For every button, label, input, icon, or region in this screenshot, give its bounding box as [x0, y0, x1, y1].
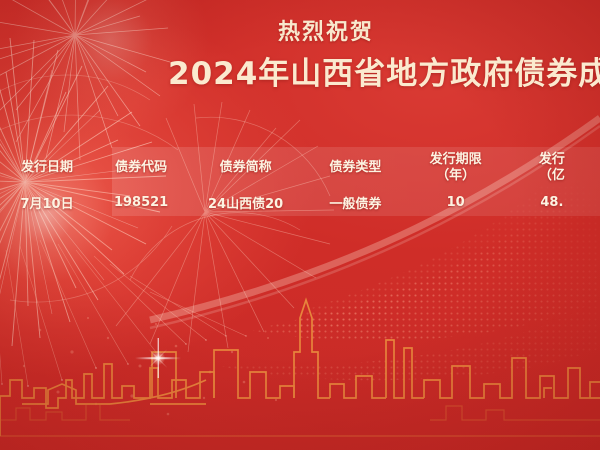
cell-bond-short-name: 24山西债20	[188, 189, 303, 216]
column-header-bond-type: 债券类型	[303, 147, 408, 189]
sparkle-star	[157, 357, 159, 359]
headline-block: 热烈祝贺 2024年山西省地方政府债券成功发	[0, 22, 600, 91]
column-header-issue-date: 发行日期	[0, 147, 94, 189]
page-title: 2024年山西省地方政府债券成功发	[0, 58, 600, 91]
header-line-1: 发行日期	[21, 160, 73, 175]
header-line-1: 债券类型	[329, 160, 381, 175]
kicker-text: 热烈祝贺	[0, 22, 600, 44]
column-header-issue-term: 发行期限 （年）	[408, 147, 504, 189]
column-header-bond-short-name: 债券简称	[188, 147, 303, 189]
cell-issue-term: 10	[408, 189, 504, 216]
column-header-issue-amount: 发行 （亿	[504, 147, 600, 189]
header-line-1: 发行	[539, 152, 565, 167]
cell-issue-amount: 48.	[504, 189, 600, 216]
cell-issue-date: 7月10日	[0, 189, 94, 216]
header-line-1: 发行期限	[430, 152, 482, 167]
table-row: 7月10日 198521 24山西债20 一般债券 10 48.	[0, 189, 600, 216]
table-header-row: 发行日期 债券代码 债券简称 债券类型 发行期限 （年） 发行 （亿	[0, 147, 600, 189]
celebration-poster: 热烈祝贺 2024年山西省地方政府债券成功发 发行日期 债券代码 债券简称 债券…	[0, 0, 600, 450]
cell-bond-code: 198521	[94, 189, 188, 216]
bond-issuance-table: 发行日期 债券代码 债券简称 债券类型 发行期限 （年） 发行 （亿	[0, 147, 600, 216]
header-line-2: （年）	[408, 168, 504, 184]
header-line-1: 债券简称	[220, 160, 272, 175]
column-header-bond-code: 债券代码	[94, 147, 188, 189]
header-line-1: 债券代码	[115, 160, 167, 175]
cell-bond-type: 一般债券	[303, 189, 408, 216]
header-line-2: （亿	[504, 168, 600, 184]
